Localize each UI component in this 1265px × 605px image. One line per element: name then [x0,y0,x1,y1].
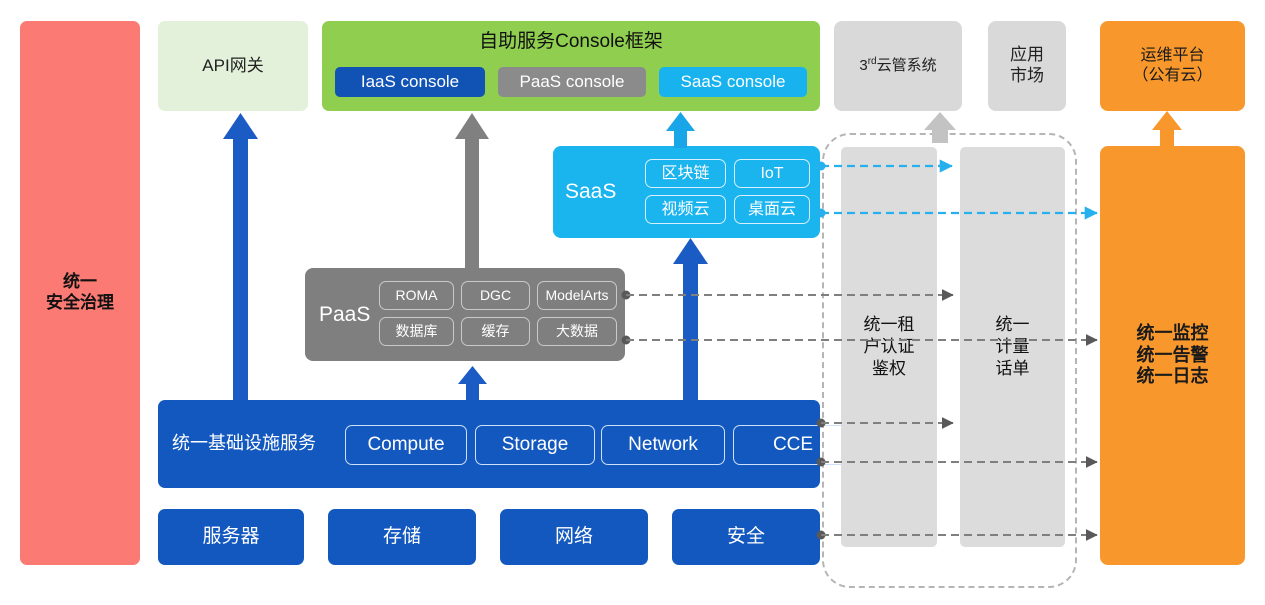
paas-chip-modelarts-label: ModelArts [545,287,608,304]
saas-layer-box[interactable]: SaaS 区块链 IoT 视频云 桌面云 [553,146,820,238]
paas-chip-modelarts[interactable]: ModelArts [537,281,617,310]
saas-chip-desktop-cloud[interactable]: 桌面云 [734,195,810,224]
saas-chip-desktop-cloud-label: 桌面云 [748,200,796,220]
app-market-label: 应用市场 [1010,45,1044,86]
unified-monitoring-panel[interactable]: 统一监控统一告警统一日志 [1100,146,1245,565]
hardware-box-storage-label: 存储 [383,525,421,548]
paas-chip-roma-label: ROMA [396,287,438,304]
iaas-console-label: IaaS console [361,72,459,93]
iaas-console-chip[interactable]: IaaS console [335,67,485,97]
paas-chip-dgc[interactable]: DGC [461,281,530,310]
unified-security-governance-panel[interactable]: 统一安全治理 [20,21,140,565]
hardware-box-network[interactable]: 网络 [500,509,648,565]
third-party-cloud-mgmt-box[interactable]: 3rd云管系统 [834,21,962,111]
hardware-box-storage[interactable]: 存储 [328,509,476,565]
infra-chip-storage-label: Storage [502,433,569,456]
paas-chip-bigdata[interactable]: 大数据 [537,317,617,346]
arrow-infra-to-saas [673,238,708,400]
unified-tenant-auth-column[interactable]: 统一租户认证鉴权 [841,147,937,547]
saas-console-label: SaaS console [681,72,786,93]
unified-metering-label: 统一计量话单 [996,314,1030,379]
saas-chip-video-cloud[interactable]: 视频云 [645,195,726,224]
app-market-box[interactable]: 应用市场 [988,21,1066,111]
arrow-paas-to-console [455,113,489,268]
paas-chip-cache[interactable]: 缓存 [461,317,530,346]
paas-console-chip[interactable]: PaaS console [498,67,646,97]
arrow-ops-panel-to-ops-top [1152,111,1182,147]
hardware-box-security-label: 安全 [727,525,765,548]
console-frame-title: 自助服务Console框架 [322,30,820,53]
paas-layer-box[interactable]: PaaS ROMA DGC ModelArts 数据库 缓存 大数据 [305,268,625,361]
paas-chip-database-label: 数据库 [396,323,438,340]
infra-chip-storage[interactable]: Storage [475,425,595,465]
third-party-ordinal-suffix: rd [868,56,877,67]
unified-infrastructure-service-label: 统一基础设施服务 [172,400,316,488]
infra-chip-network[interactable]: Network [601,425,725,465]
saas-console-chip[interactable]: SaaS console [659,67,807,97]
arrow-infra-to-api-gateway [223,113,258,400]
saas-layer-label: SaaS [565,146,616,238]
saas-chip-video-cloud-label: 视频云 [661,200,709,220]
unified-infrastructure-service-bar[interactable]: 统一基础设施服务 Compute Storage Network CCE [158,400,820,488]
arrow-saas-to-console [666,112,695,148]
unified-monitoring-label: 统一监控统一告警统一日志 [1137,323,1209,389]
paas-chip-bigdata-label: 大数据 [556,323,598,340]
paas-console-label: PaaS console [520,72,625,93]
saas-chip-iot-label: IoT [760,164,783,184]
unified-metering-column[interactable]: 统一计量话单 [960,147,1065,547]
paas-chip-roma[interactable]: ROMA [379,281,454,310]
self-service-console-frame[interactable]: 自助服务Console框架 IaaS console PaaS console … [322,21,820,111]
arrow-infra-to-paas [458,366,487,400]
paas-chip-database[interactable]: 数据库 [379,317,454,346]
api-gateway-label: API网关 [202,56,263,77]
saas-chip-iot[interactable]: IoT [734,159,810,188]
infra-chip-compute[interactable]: Compute [345,425,467,465]
infra-chip-compute-label: Compute [367,433,444,456]
hardware-box-security[interactable]: 安全 [672,509,820,565]
ops-platform-public-cloud-label: 运维平台（公有云） [1132,46,1212,85]
infra-chip-network-label: Network [628,433,698,456]
third-party-number: 3 [859,57,867,74]
saas-chip-blockchain[interactable]: 区块链 [645,159,726,188]
hardware-box-server-label: 服务器 [202,525,259,548]
saas-chip-blockchain-label: 区块链 [661,164,709,184]
third-party-cloud-mgmt-label: 3rd云管系统 [859,56,936,75]
paas-chip-cache-label: 缓存 [482,323,510,340]
architecture-diagram: 统一安全治理 API网关 自助服务Console框架 IaaS console … [0,0,1265,605]
third-party-text: 云管系统 [877,57,937,74]
paas-layer-label: PaaS [319,268,370,361]
unified-tenant-auth-label: 统一租户认证鉴权 [864,314,915,379]
api-gateway-box[interactable]: API网关 [158,21,308,111]
unified-security-governance-label: 统一安全治理 [46,272,114,313]
infra-chip-cce-label: CCE [773,433,813,456]
ops-platform-public-cloud-box[interactable]: 运维平台（公有云） [1100,21,1245,111]
hardware-box-network-label: 网络 [555,525,593,548]
hardware-box-server[interactable]: 服务器 [158,509,304,565]
paas-chip-dgc-label: DGC [480,287,511,304]
